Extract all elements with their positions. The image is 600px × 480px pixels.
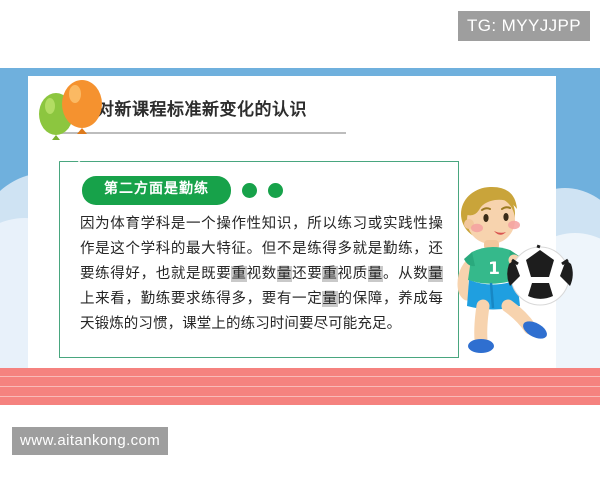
track-line-2 (0, 386, 600, 387)
badge-row: 第二方面是勤练 (82, 176, 283, 205)
body-segment-2: 视数 (247, 266, 277, 282)
body-segment-4: 还要 (292, 266, 322, 282)
jersey-number: 1 (488, 259, 500, 279)
slide-heading-text: 一、对新课程标准新变化的认识 (62, 100, 532, 120)
section-badge: 第二方面是勤练 (82, 176, 231, 205)
body-segment-11: 量 (322, 291, 337, 307)
watermark-bottom-left: www.aitankong.com (12, 427, 168, 455)
orange-balloon (62, 80, 102, 128)
body-segment-3: 量 (277, 266, 292, 282)
red-track-bar (0, 368, 600, 405)
track-line-3 (0, 396, 600, 397)
body-segment-5: 重 (322, 266, 337, 282)
boy-playing-soccer-illustration: 1 (428, 184, 578, 369)
slide-content-panel: 一、对新课程标准新变化的认识 第二方面是勤练 因为体育学科是一个操作性知识，所以… (28, 76, 556, 396)
body-segment-6: 视质 (338, 266, 368, 282)
presentation-slide: 一、对新课程标准新变化的认识 第二方面是勤练 因为体育学科是一个操作性知识，所以… (0, 68, 600, 405)
decor-dot-2 (268, 183, 283, 198)
body-segment-7: 量 (368, 266, 383, 282)
track-line-1 (0, 376, 600, 377)
decor-dot-1 (242, 183, 257, 198)
body-segment-1: 重 (231, 266, 246, 282)
body-segment-10: 上来看，勤练要求练得多，要有一定 (80, 291, 322, 307)
watermark-top-right: TG: MYYJJPP (458, 11, 590, 41)
body-paragraph: 因为体育学科是一个操作性知识，所以练习或实践性操作是这个学科的最大特征。但不是练… (80, 212, 443, 337)
body-segment-8: 。从数 (383, 266, 428, 282)
content-box: 第二方面是勤练 因为体育学科是一个操作性知识，所以练习或实践性操作是这个学科的最… (59, 161, 459, 358)
slide-heading: 一、对新课程标准新变化的认识 (62, 100, 532, 120)
balloon-decoration (32, 74, 112, 166)
